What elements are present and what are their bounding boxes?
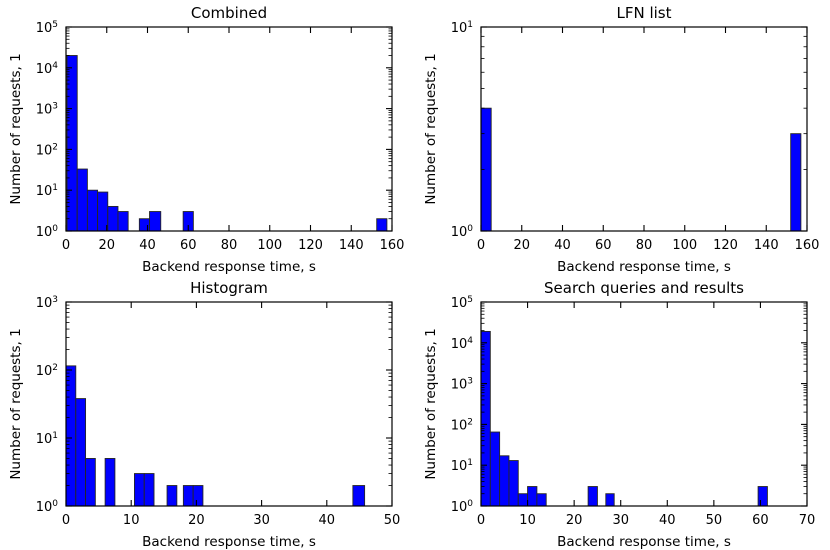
bars-group xyxy=(66,366,365,506)
x-tick-label: 80 xyxy=(221,238,238,253)
chart-title: Combined xyxy=(191,4,267,22)
y-tick-label: 103 xyxy=(451,377,473,393)
chart-histogram: Histogram10010110210301020304050Backend … xyxy=(0,275,415,550)
y-tick-label: 100 xyxy=(451,499,474,515)
histogram-bar xyxy=(481,331,490,506)
x-tick-label: 10 xyxy=(123,513,140,528)
x-axis-label: Backend response time, s xyxy=(557,259,731,275)
chart-title: Search queries and results xyxy=(544,279,744,297)
x-tick-label: 60 xyxy=(752,513,769,528)
x-axis-label: Backend response time, s xyxy=(142,259,316,275)
histogram-bar xyxy=(353,486,365,506)
histogram-bar xyxy=(66,366,76,506)
x-tick-label: 80 xyxy=(636,238,653,253)
histogram-bar xyxy=(758,487,767,506)
chart-title: Histogram xyxy=(190,279,268,297)
x-axis-label: Backend response time, s xyxy=(142,534,316,550)
y-tick-label: 105 xyxy=(36,20,58,36)
x-tick-label: 0 xyxy=(62,238,70,253)
chart-search-queries-and-results: Search queries and results10010110210310… xyxy=(415,275,830,550)
histogram-bar xyxy=(134,474,144,506)
y-tick-label: 104 xyxy=(451,336,474,352)
bars-group xyxy=(481,108,801,231)
x-tick-label: 20 xyxy=(513,238,530,253)
histogram-bar xyxy=(606,494,614,506)
x-tick-label: 160 xyxy=(795,238,820,253)
histogram-bar xyxy=(105,458,115,506)
histogram-bar xyxy=(108,206,118,231)
histogram-bar xyxy=(144,474,154,506)
chart-lfn-list: LFN list100101020406080100120140160Backe… xyxy=(415,0,830,275)
y-tick-label: 103 xyxy=(36,102,58,118)
y-tick-label: 101 xyxy=(451,20,473,36)
x-tick-label: 70 xyxy=(799,513,816,528)
axes-frame xyxy=(481,27,807,231)
histogram-bar xyxy=(518,494,527,506)
y-tick-label: 101 xyxy=(451,458,473,474)
axes-frame xyxy=(66,27,392,231)
histogram-bar xyxy=(791,134,801,231)
x-tick-label: 0 xyxy=(477,238,485,253)
x-tick-label: 30 xyxy=(612,513,629,528)
y-tick-label: 102 xyxy=(36,363,58,379)
histogram-bar xyxy=(528,487,537,506)
y-axis-label: Number of requests, 1 xyxy=(8,53,24,204)
y-tick-label: 101 xyxy=(36,431,58,447)
subplot-histogram: Histogram10010110210301020304050Backend … xyxy=(0,275,415,550)
x-tick-label: 50 xyxy=(706,513,723,528)
subplot-lfn-list: LFN list100101020406080100120140160Backe… xyxy=(415,0,830,275)
y-tick-label: 105 xyxy=(451,295,473,311)
x-tick-label: 100 xyxy=(672,238,697,253)
x-tick-label: 40 xyxy=(139,238,156,253)
x-tick-label: 40 xyxy=(554,238,571,253)
x-tick-label: 140 xyxy=(754,238,779,253)
x-tick-label: 120 xyxy=(713,238,738,253)
histogram-bar xyxy=(118,212,128,231)
histogram-bar xyxy=(87,190,97,231)
x-tick-label: 20 xyxy=(188,513,205,528)
histogram-bar xyxy=(377,219,387,231)
x-tick-label: 0 xyxy=(477,513,485,528)
histogram-bar xyxy=(183,486,193,506)
histogram-bar xyxy=(490,432,499,506)
x-tick-label: 60 xyxy=(180,238,197,253)
histogram-bar xyxy=(77,169,87,231)
bars-group xyxy=(481,331,767,506)
y-tick-label: 100 xyxy=(451,224,474,240)
y-axis-label: Number of requests, 1 xyxy=(423,328,439,479)
x-tick-label: 140 xyxy=(339,238,364,253)
histogram-bar xyxy=(76,399,86,506)
x-tick-label: 40 xyxy=(319,513,336,528)
y-axis-label: Number of requests, 1 xyxy=(423,53,439,204)
x-tick-label: 160 xyxy=(380,238,405,253)
y-tick-label: 103 xyxy=(36,295,58,311)
y-tick-label: 101 xyxy=(36,183,58,199)
x-tick-label: 0 xyxy=(62,513,70,528)
histogram-bar xyxy=(588,487,597,506)
histogram-bar xyxy=(537,494,546,506)
histogram-bar xyxy=(193,486,203,506)
histogram-bar xyxy=(509,461,518,506)
x-tick-label: 30 xyxy=(253,513,270,528)
histogram-bar xyxy=(67,56,77,231)
y-tick-label: 100 xyxy=(36,499,59,515)
x-tick-label: 50 xyxy=(384,513,401,528)
x-tick-label: 120 xyxy=(298,238,323,253)
y-tick-label: 102 xyxy=(451,417,473,433)
figure-grid: Combined10010110210310410502040608010012… xyxy=(0,0,830,550)
x-tick-label: 60 xyxy=(595,238,612,253)
chart-title: LFN list xyxy=(616,4,671,22)
axes-frame xyxy=(481,302,807,506)
x-tick-label: 10 xyxy=(519,513,536,528)
y-axis-label: Number of requests, 1 xyxy=(8,328,24,479)
histogram-bar xyxy=(150,212,161,231)
y-tick-label: 104 xyxy=(36,61,59,77)
subplot-search-queries-and-results: Search queries and results10010110210310… xyxy=(415,275,830,550)
histogram-bar xyxy=(86,458,96,506)
x-tick-label: 100 xyxy=(257,238,282,253)
x-tick-label: 40 xyxy=(659,513,676,528)
x-tick-label: 20 xyxy=(98,238,115,253)
chart-combined: Combined10010110210310410502040608010012… xyxy=(0,0,415,275)
bars-group xyxy=(67,56,387,231)
histogram-bar xyxy=(500,456,509,506)
y-tick-label: 102 xyxy=(36,142,58,158)
y-tick-label: 100 xyxy=(36,224,59,240)
x-axis-label: Backend response time, s xyxy=(557,534,731,550)
x-tick-label: 20 xyxy=(566,513,583,528)
histogram-bar xyxy=(167,486,177,506)
subplot-combined: Combined10010110210310410502040608010012… xyxy=(0,0,415,275)
